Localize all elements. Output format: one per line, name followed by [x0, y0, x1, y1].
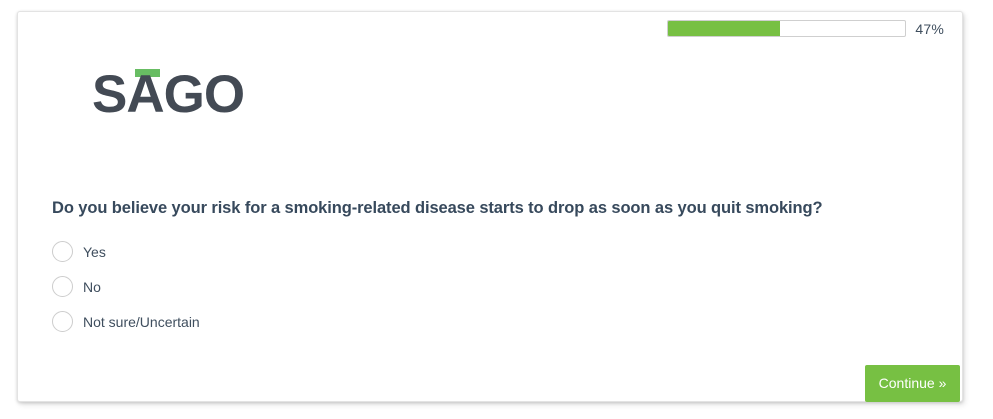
continue-button[interactable]: Continue » — [865, 365, 960, 402]
progress-percent-label: 47% — [915, 21, 944, 37]
option-row-not-sure[interactable]: Not sure/Uncertain — [52, 304, 200, 339]
option-label-no: No — [83, 279, 101, 295]
option-row-yes[interactable]: Yes — [52, 234, 200, 269]
survey-page: 47% SAGO Do you believe your risk for a … — [0, 0, 993, 419]
logo-wordmark: SAGO — [92, 68, 244, 121]
progress-bar-fill — [668, 21, 779, 36]
answer-options-group: Yes No Not sure/Uncertain — [52, 234, 200, 339]
option-label-not-sure: Not sure/Uncertain — [83, 314, 200, 330]
option-label-yes: Yes — [83, 244, 106, 260]
option-row-no[interactable]: No — [52, 269, 200, 304]
question-text: Do you believe your risk for a smoking-r… — [52, 199, 822, 218]
radio-button-icon-no[interactable] — [52, 276, 73, 297]
progress-bar-track — [667, 20, 906, 37]
survey-card: 47% SAGO Do you believe your risk for a … — [17, 11, 963, 402]
progress-row: 47% — [667, 20, 944, 37]
radio-button-icon-yes[interactable] — [52, 241, 73, 262]
radio-button-icon-not-sure[interactable] — [52, 311, 73, 332]
sago-logo: SAGO — [92, 64, 252, 134]
